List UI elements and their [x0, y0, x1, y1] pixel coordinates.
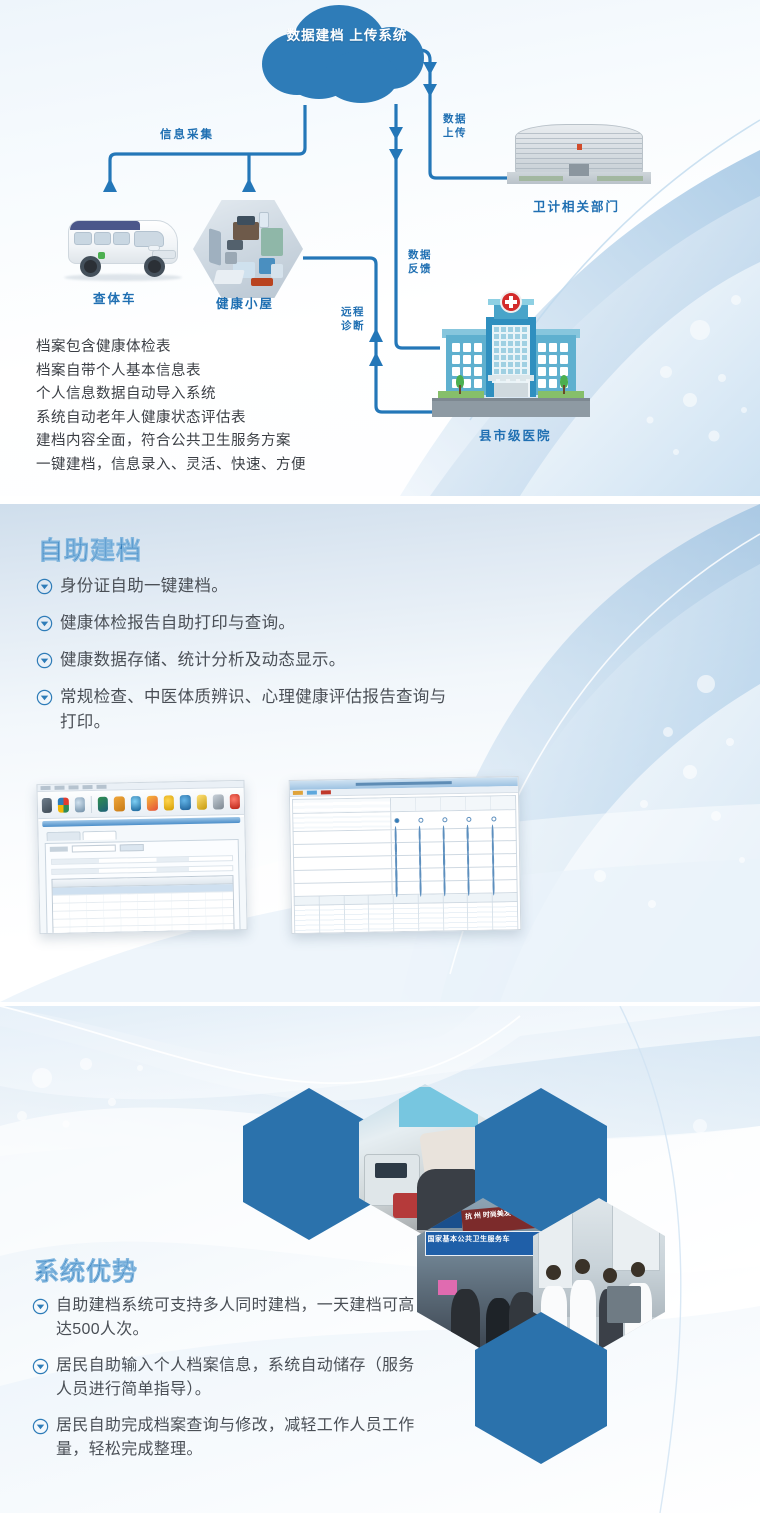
- van-roof-stripe: [70, 221, 140, 230]
- list-item: 身份证自助一键建档。: [36, 574, 486, 599]
- cabin-item: [251, 278, 273, 286]
- toolbar-icon-key[interactable]: [196, 794, 207, 809]
- van-window: [113, 232, 130, 245]
- flow-label-info-collect: 信息采集: [160, 128, 214, 143]
- van-window: [94, 232, 111, 245]
- tab-archive-list[interactable]: [46, 831, 80, 841]
- building-entrance: [569, 164, 589, 176]
- section-title-advantages: 系统优势: [34, 1252, 138, 1288]
- caption-health-authority: 卫计相关部门: [533, 196, 620, 215]
- building-hedge: [519, 176, 563, 181]
- form-panel: [45, 839, 242, 934]
- query-row[interactable]: [46, 840, 238, 855]
- list-item: 健康数据存储、统计分析及动态显示。: [36, 648, 486, 673]
- cloud-lobe: [324, 51, 398, 103]
- toolbar-separator: [91, 796, 92, 813]
- self-service-bullet-list: 身份证自助一键建档。 健康体检报告自助打印与查询。 健康数据存储、统计分析及动态…: [36, 574, 486, 747]
- brochure-page: 数据建档 上传系统 信息采集 数据 上传 数据 反馈 远程 诊断 查体车: [0, 0, 760, 1513]
- caption-health-cabin: 健康小屋: [216, 293, 274, 312]
- list-item: 一键建档，信息录入、灵活、快速、方便: [36, 454, 306, 478]
- toolbar-icon-search[interactable]: [75, 797, 86, 812]
- filter-row[interactable]: [51, 865, 233, 875]
- list-item: 个人信息数据自动导入系统: [36, 383, 306, 407]
- cabin-item: [225, 252, 237, 264]
- section-title-self-service: 自助建档: [38, 531, 142, 567]
- health-authority-building-photo: [507, 118, 651, 188]
- caption-medical-van: 查体车: [93, 288, 137, 307]
- list-item-label: 健康体检报告自助打印与查询。: [60, 611, 295, 636]
- county-hospital-illustration: [432, 295, 590, 420]
- hospital-steps: [494, 383, 528, 397]
- list-item: 健康体检报告自助打印与查询。: [36, 611, 486, 636]
- van-wheel: [144, 256, 165, 277]
- circled-chevron-down-icon: [36, 615, 53, 632]
- toolbar-icon-sync[interactable]: [180, 794, 191, 809]
- toolbar-icon-report[interactable]: [98, 796, 109, 811]
- cloud-data-archiving-system: 数据建档 上传系统: [262, 5, 432, 110]
- cabin-item: [271, 264, 283, 278]
- circled-chevron-down-icon: [32, 1358, 49, 1375]
- cabin-item: [259, 212, 269, 228]
- app-workspace: [38, 817, 247, 934]
- toolbar-icon-document[interactable]: [114, 796, 125, 811]
- toolbar-icon-statistics[interactable]: [147, 795, 158, 810]
- data-grid[interactable]: [51, 875, 234, 934]
- flow-label-remote-diagnosis: 远程 诊断: [341, 305, 365, 333]
- circled-chevron-down-icon: [32, 1418, 49, 1435]
- van-window: [74, 232, 92, 245]
- list-item-label: 身份证自助一键建档。: [60, 574, 228, 599]
- hospital-plinth: [432, 401, 590, 417]
- list-item: 常规检查、中医体质辨识、心理健康评估报告查询与打印。: [36, 685, 486, 735]
- cabin-item: [209, 228, 221, 266]
- cloud-label: 数据建档 上传系统: [262, 27, 432, 45]
- screenshot-elderly-health-assessment-form[interactable]: [289, 776, 522, 934]
- flow-label-data-feedback: 数据 反馈: [408, 248, 432, 276]
- van-shadow: [64, 274, 182, 281]
- list-item: 系统自动老年人健康状态评估表: [36, 407, 306, 431]
- tab-archive-stats[interactable]: [82, 831, 116, 841]
- filter-row[interactable]: [51, 855, 233, 865]
- list-item: 档案自带个人基本信息表: [36, 360, 306, 384]
- hospital-center-windows: [494, 327, 527, 374]
- cabin-item: [213, 270, 244, 284]
- building-flag: [577, 144, 582, 150]
- tree-icon: [560, 375, 568, 393]
- list-item-label: 常规检查、中医体质辨识、心理健康评估报告查询与打印。: [60, 685, 460, 735]
- bus-banner-text: 国家基本公共卫生服务车: [428, 1234, 539, 1244]
- hexagon-solid-top-left: [243, 1088, 375, 1240]
- red-cross-icon-bar: [505, 300, 517, 304]
- toolbar-icon-tools[interactable]: [213, 794, 224, 809]
- toolbar-icon-settings[interactable]: [131, 796, 142, 811]
- screenshot-archive-management-window[interactable]: [36, 780, 247, 934]
- caption-county-hospital: 县市级医院: [479, 425, 552, 444]
- toolbar-icon-user[interactable]: [163, 795, 174, 810]
- circled-chevron-down-icon: [36, 652, 53, 669]
- assessment-table: [290, 793, 521, 934]
- medical-van-illustration: [60, 212, 185, 282]
- building-hedge: [597, 176, 643, 181]
- constitution-checkbox-grid[interactable]: [294, 902, 519, 934]
- hexagon-photo-cluster: 抗 州 时尚美发 国家基本公共卫生服务车: [243, 1084, 663, 1444]
- list-item-label: 健康数据存储、统计分析及动态显示。: [60, 648, 346, 673]
- list-item: 档案包含健康体检表: [36, 336, 306, 360]
- van-green-badge: [98, 252, 105, 259]
- toolbar-icon-exit[interactable]: [229, 793, 240, 808]
- toolbar-icon-colorwheel[interactable]: [58, 797, 69, 812]
- cabin-item: [227, 240, 243, 250]
- assessment-question-rows[interactable]: [292, 810, 517, 897]
- toolbar-icon-archive[interactable]: [42, 797, 53, 812]
- van-wheel: [80, 256, 101, 277]
- flow-label-data-upload: 数据 上传: [443, 112, 467, 140]
- cabin-item: [237, 216, 255, 225]
- app-toolbar[interactable]: [38, 788, 245, 819]
- circled-chevron-down-icon: [36, 578, 53, 595]
- tree-icon: [456, 375, 464, 393]
- circled-chevron-down-icon: [32, 1298, 49, 1315]
- diagram-feature-list: 档案包含健康体检表 档案自带个人基本信息表 个人信息数据自动导入系统 系统自动老…: [36, 336, 306, 477]
- cabin-item: [261, 228, 283, 256]
- circled-chevron-down-icon: [36, 689, 53, 706]
- section-data-archiving-diagram: 数据建档 上传系统 信息采集 数据 上传 数据 反馈 远程 诊断 查体车: [0, 0, 760, 496]
- list-item: 建档内容全面，符合公共卫生服务方案: [36, 430, 306, 454]
